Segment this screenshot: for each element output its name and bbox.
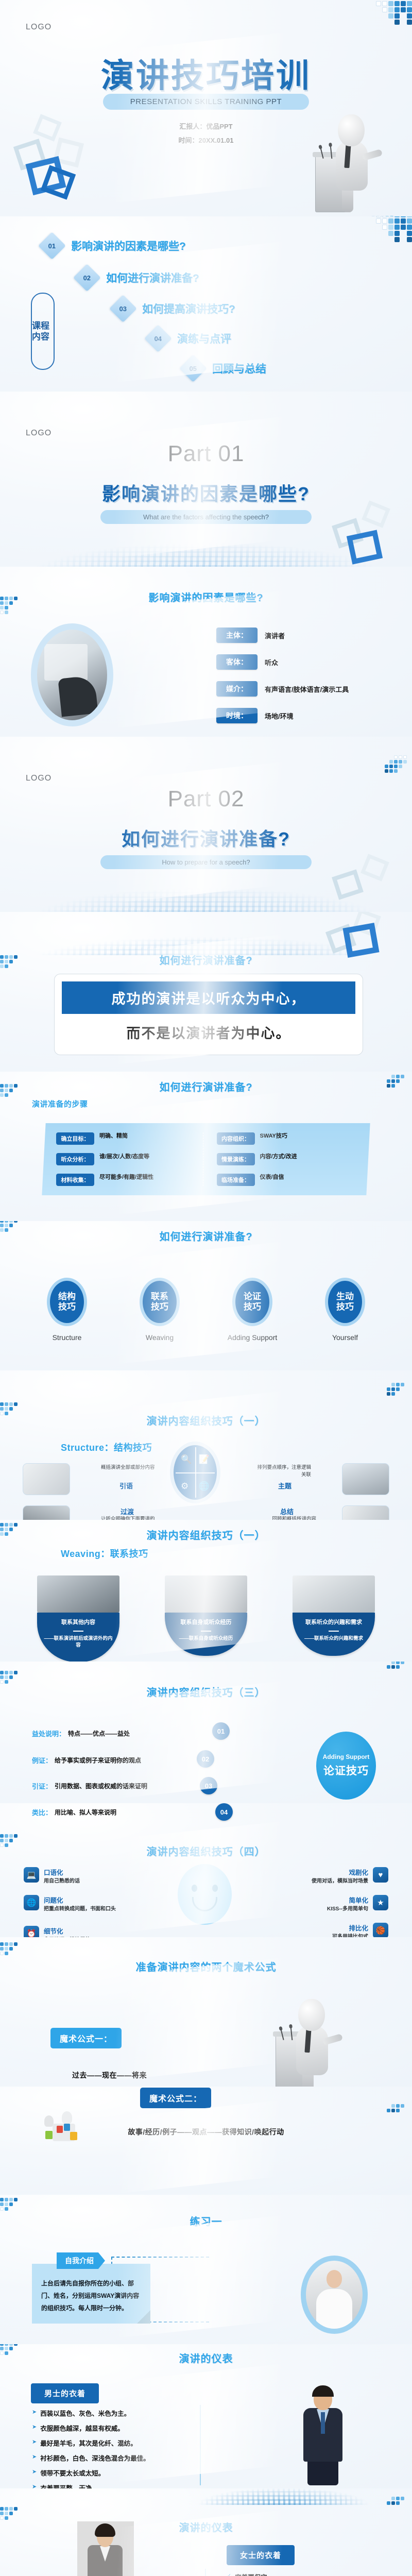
section-heading: 如何进行演讲准备? (0, 1228, 412, 1243)
podium-speaker-illustration (315, 114, 382, 212)
slide-weaving-skills: 演讲内容组织技巧（一） Weaving：联系技巧 联系其他内容 ——联系演讲前后… (0, 1520, 412, 1662)
yourself-title: 戏剧化 (312, 1867, 368, 1877)
star-icon: ★ (373, 1895, 388, 1910)
support-row-02: 例证： 给予事实或例子来证明你的观点 (32, 1755, 141, 1765)
toc-tag-label: 课程内容 (32, 320, 54, 343)
slide-structure-skills: 演讲内容组织技巧（一） Structure：结构技巧 🔍 📝 ⚙ 🌐 概括演讲全… (0, 1370, 412, 1520)
toc-item-label: 演练与点评 (177, 331, 231, 346)
weaving-card-title: 联系其他内容 (42, 1619, 114, 1626)
magic-formula-one-tag: 魔术公式一： (50, 2028, 122, 2048)
practice-note-text: 上台后请先自报你所在的小组、部门、姓名，分别运用SWAY演讲内容的组织技巧。每人… (41, 2280, 139, 2312)
mosaic-decoration-left (0, 1942, 22, 1955)
divider (201, 1631, 211, 1632)
step-key: 材料收集： (56, 1174, 94, 1186)
gear-people-icon: ⚙ (181, 1481, 188, 1492)
slide-part-02: LOGO Part 02 如何进行演讲准备? How to prepare fo… (0, 737, 412, 912)
practice-tag: 自我介绍 (57, 2252, 105, 2269)
toc-number-badge: 04 (144, 325, 172, 352)
yourself-desc: 可多用排比句式 (332, 1934, 368, 1937)
smiley-face-icon (178, 1864, 232, 1925)
yourself-item-detail: ⏰ 细节化 多用动词，描绘细节 (24, 1926, 163, 1937)
structure-caption-quotes: 概括演讲全部或部分内容 (101, 1464, 158, 1471)
slide-magic-formula-two: 魔术公式二： 故事/经历/例子——观点——获得知识/唤起行动 (0, 2087, 412, 2195)
factor-key: 媒介： (216, 681, 257, 697)
podium-speaker-illustration (276, 1999, 340, 2087)
section-heading: 练习一 (0, 2213, 412, 2228)
support-value: 特点——优点——益处 (68, 1729, 130, 1738)
dotted-floor-decoration (0, 520, 412, 567)
slide-preparation-steps: 如何进行演讲准备? 演讲准备的步骤 确立目标： 明确、精简 听众分析： 谁/层次… (0, 1072, 412, 1221)
list-item: ➤最好是羊毛，其次是化纤、混纺。 (32, 2438, 197, 2448)
step-key: 听众分析： (56, 1153, 94, 1165)
slide-cover: LOGO 演讲技巧培训 PRESENTATION SKILLS TRAINING… (0, 0, 412, 216)
structure-label-quotes: 引语 (119, 1481, 133, 1490)
mosaic-decoration-top-right (376, 0, 412, 25)
sway-label-bottom: 技巧 (151, 1302, 168, 1312)
structure-thumb-transition (23, 1505, 70, 1520)
section-heading: 准备演讲内容的两个魔术公式 (0, 1959, 412, 1974)
section-heading: 如何进行演讲准备? (0, 1079, 412, 1094)
preparation-steps-panel: 确立目标： 明确、精简 听众分析： 谁/层次/人数/态度等 材料收集： 尽可能多… (42, 1123, 370, 1195)
weaving-card-3: 联系听众的兴趣和需求 ——联系听众的兴趣和需求 (293, 1575, 375, 1656)
slide-practice-one: 练习一 上台后请先自报你所在的小组、部门、姓名，分别运用SWAY演讲内容的组织技… (0, 2195, 412, 2344)
steps-column-left: 确立目标： 明确、精简 听众分析： 谁/层次/人数/态度等 材料收集： 尽可能多… (56, 1132, 203, 1186)
list-item: ➤衣着要平整，干净。 (32, 2483, 197, 2488)
step-row: 临场准备： 仪表/自信 (217, 1174, 356, 1186)
team-figures-illustration (41, 2108, 93, 2148)
yourself-title: 简单化 (327, 1895, 368, 1905)
factor-row: 时境： 场地/环境 (216, 708, 349, 723)
step-row: 确立目标： 明确、精简 (56, 1132, 196, 1145)
part-number: Part 01 (0, 441, 412, 467)
slide-audience-centered: 如何进行演讲准备? 成功的演讲是以听众为中心， 而不是以演讲者为中心。 (0, 912, 412, 1072)
sway-label-top: 联系 (151, 1292, 168, 1302)
toc-number-badge: 01 (38, 232, 66, 260)
support-value: 用比喻、拟人等来说明 (55, 1808, 116, 1817)
logo-text: LOGO (26, 429, 51, 438)
factors-photo (31, 623, 113, 726)
step-value: 仪表/自信 (260, 1174, 284, 1181)
structure-label-topic: 主题 (278, 1481, 291, 1490)
section-heading: 演讲的仪表 (0, 2519, 412, 2534)
section-subheading: Structure：结构技巧 (61, 1440, 152, 1454)
yourself-desc: 使用对话，模拟当时场景 (312, 1878, 368, 1885)
arrow-bullet-icon: ➤ (32, 2453, 37, 2462)
monitor-icon: 💻 (24, 1867, 39, 1883)
factor-value: 演讲者 (265, 631, 285, 640)
support-number-03: 03 (200, 1777, 217, 1794)
structure-quadrant-diagram: 🔍 📝 ⚙ 🌐 (170, 1442, 220, 1503)
sway-item-structure[interactable]: 结构技巧 Structure (36, 1278, 98, 1342)
yourself-item-colloquial: 💻 口语化 用自己熟悉的话 (24, 1867, 163, 1885)
yourself-title: 排比化 (332, 1923, 368, 1933)
part-number: Part 02 (0, 786, 412, 812)
etiquette-men-tag: 男士的衣着 (31, 2383, 99, 2403)
weaving-card-title: 联系自身或听众经历 (170, 1619, 242, 1626)
section-heading: 演讲的仪表 (0, 2350, 412, 2365)
structure-thumb-topic (342, 1463, 389, 1495)
clock-icon: ⏰ (24, 1926, 39, 1937)
slide-part-01: LOGO Part 01 影响演讲的因素是哪些? What are the fa… (0, 392, 412, 567)
mosaic-decoration-right (385, 755, 407, 773)
step-key: 确立目标： (56, 1132, 94, 1145)
male-model-photo (296, 2387, 350, 2485)
sway-label-bottom: 技巧 (58, 1302, 76, 1312)
mosaic-decoration-left (0, 2507, 22, 2520)
step-value: 明确、精简 (99, 1132, 128, 1140)
basketball-icon: 🏀 (373, 1923, 388, 1937)
yourself-desc: KISS--多用简单句 (327, 1906, 368, 1913)
yourself-title: 口语化 (44, 1867, 80, 1877)
list-item: ➤衬衫颜色，白色、深浅色混合为最佳。 (32, 2453, 197, 2463)
list-item: ➤领带不要太长或太短。 (32, 2468, 197, 2478)
female-model-photo (77, 2521, 134, 2576)
mosaic-decoration-toc (376, 216, 412, 242)
weaving-card-desc: ——联系听众的兴趣和需求 (298, 1636, 370, 1642)
slide-table-of-contents: 课程内容 01 影响演讲的因素是哪些? 02 如何进行演讲准备? 03 如何提高… (0, 216, 412, 392)
arrow-bullet-icon: ➤ (32, 2423, 37, 2432)
part-title-cn: 如何进行演讲准备? (0, 824, 412, 851)
support-row-04: 类比： 用比喻、拟人等来说明 (32, 1807, 116, 1817)
mosaic-decoration-left (0, 1671, 22, 1684)
section-subheading: 演讲准备的步骤 (32, 1098, 88, 1109)
toc-number-badge: 05 (179, 354, 207, 382)
step-key: 内容组织： (217, 1132, 255, 1145)
cover-subtitle: PRESENTATION SKILLS TRAINING PPT (103, 94, 309, 110)
quote-box: 成功的演讲是以听众为中心， 而不是以演讲者为中心。 (54, 974, 363, 1055)
part-title-cn: 影响演讲的因素是哪些? (0, 479, 412, 506)
sway-circle: 论证技巧 (232, 1278, 272, 1326)
toc-item-02[interactable]: 02 如何进行演讲准备? (77, 268, 199, 287)
mosaic-decoration-right (387, 1383, 409, 1396)
cover-title: 演讲技巧培训 (0, 49, 412, 97)
step-value: 内容/方式/改进 (260, 1153, 297, 1160)
step-value: 尽可能多/有趣/逻辑性 (99, 1174, 153, 1181)
quote-line-1: 成功的演讲是以听众为中心， (62, 981, 355, 1014)
factor-row: 媒介： 有声语言/肢体语言/演示工具 (216, 681, 349, 697)
mosaic-decoration-right (387, 1662, 409, 1669)
yourself-title: 细节化 (44, 1926, 90, 1936)
section-heading: 演讲内容组织技巧（一） (0, 1527, 412, 1542)
section-heading: 影响演讲的因素是哪些? (0, 589, 412, 604)
check-bullet-icon: ✓ (227, 2572, 231, 2576)
factor-key: 时境： (216, 708, 257, 723)
factors-list: 主体： 演讲者 客体： 听众 媒介： 有声语言/肢体语言/演示工具 时境： 场地… (216, 628, 349, 735)
yourself-item-questioning: 🌐 问题化 把重点转换成问题，书面和口头 (24, 1895, 163, 1913)
sway-items: 结构技巧 Structure 联系技巧 Weaving 论证技巧 Adding … (36, 1278, 376, 1342)
adding-support-ball: Adding Support 论证技巧 (316, 1732, 376, 1800)
list-item: ➤西装以蓝色、灰色、米色为主。 (32, 2408, 197, 2418)
slide-sway-skills: 如何进行演讲准备? 结构技巧 Structure 联系技巧 Weaving 论证… (0, 1221, 412, 1370)
structure-caption-summary: 回顾和概括所讲内容 (252, 1516, 316, 1520)
section-heading: 演讲内容组织技巧（一） (0, 1413, 412, 1428)
slide-etiquette-men: 演讲的仪表 男士的衣着 ➤西装以蓝色、灰色、米色为主。 ➤衣服颜色越深，越显有权… (0, 2344, 412, 2488)
part-title-en: How to prepare for a speech? (100, 855, 312, 869)
document-icon: 📝 (199, 1454, 210, 1465)
divider (329, 1631, 339, 1632)
cube-frames-illustration (327, 857, 404, 912)
structure-thumb-quotes (23, 1463, 70, 1495)
sway-label-bottom: 技巧 (336, 1302, 354, 1312)
toc-section-tag: 课程内容 (31, 293, 55, 370)
support-number-02: 02 (197, 1750, 214, 1768)
toc-item-01[interactable]: 01 影响演讲的因素是哪些? (42, 236, 186, 256)
dotted-floor-decoration (0, 919, 412, 955)
arrow-bullet-icon: ➤ (32, 2483, 37, 2488)
step-row: 情景演练： 内容/方式/改进 (217, 1153, 356, 1165)
sway-label-en: Yourself (314, 1333, 376, 1342)
slide-adding-support: 演讲内容组织技巧（三） 益处说明： 特点——优点——益处 01 例证： 给予事实… (0, 1662, 412, 1803)
factor-value: 听众 (265, 657, 278, 667)
structure-thumb-summary (342, 1505, 389, 1520)
toc-item-05[interactable]: 05 回顾与总结 (183, 359, 266, 378)
list-item: ✓穿着要保守。 (227, 2572, 381, 2576)
support-ball-en: Adding Support (323, 1753, 370, 1760)
structure-label-summary: 总结 (280, 1506, 294, 1516)
sway-item-yourself[interactable]: 生动技巧 Yourself (314, 1278, 376, 1342)
factor-key: 客体： (216, 654, 257, 670)
weaving-card-desc: ——联系演讲前后或演讲外的内容 (42, 1636, 114, 1649)
part-title-en: What are the factors affecting the speec… (100, 510, 312, 524)
sway-item-weaving[interactable]: 联系技巧 Weaving (129, 1278, 191, 1342)
sway-label-en: Weaving (129, 1333, 191, 1342)
support-key: 益处说明： (32, 1728, 65, 1738)
practice-note-card: 上台后请先自报你所在的小组、部门、姓名，分别运用SWAY演讲内容的组织技巧。每人… (32, 2264, 150, 2324)
sway-item-adding-support[interactable]: 论证技巧 Adding Support (221, 1278, 283, 1342)
factor-row: 主体： 演讲者 (216, 628, 349, 643)
weaving-card-desc: ——联系自身或听众经历 (170, 1636, 242, 1642)
arrow-bullet-icon: ➤ (32, 2408, 37, 2417)
support-key: 类比： (32, 1807, 52, 1817)
step-row: 听众分析： 谁/层次/人数/态度等 (56, 1153, 196, 1165)
etiquette-women-list: ✓穿着要保守。 ✓套裙会增强你的形象。 ✓裙子的长度以稍过膝为宜。 ✓珠宝配戴要… (227, 2572, 381, 2576)
practice-photo (301, 2256, 368, 2334)
yourself-item-simple: ★ 简单化 KISS--多用简单句 (249, 1895, 388, 1913)
globe-icon: 🌐 (24, 1895, 39, 1910)
globe-icon: 🌐 (199, 1481, 210, 1492)
mosaic-decoration-right (387, 2104, 409, 2112)
support-value: 给予事实或例子来证明你的观点 (55, 1756, 141, 1765)
magic-formula-two-tag: 魔术公式二： (140, 2088, 211, 2108)
sway-label-bottom: 技巧 (244, 1302, 261, 1312)
arrow-bullet-icon: ➤ (32, 2438, 37, 2447)
presentation-page: LOGO 演讲技巧培训 PRESENTATION SKILLS TRAINING… (0, 0, 412, 2576)
mosaic-decoration-left (0, 2198, 22, 2211)
support-key: 引证： (32, 1781, 52, 1791)
section-heading: 演讲内容组织技巧（四） (0, 1843, 412, 1858)
etiquette-women-tag: 女士的衣着 (227, 2545, 295, 2565)
arrow-bullet-icon: ➤ (32, 2468, 37, 2477)
factor-value: 场地/环境 (265, 711, 294, 721)
support-number-01: 01 (212, 1722, 230, 1740)
step-row: 内容组织： SWAY技巧 (217, 1132, 356, 1145)
weaving-photo (37, 1575, 119, 1613)
toc-number-badge: 03 (109, 295, 137, 323)
section-heading: 演讲内容组织技巧（三） (0, 1684, 412, 1699)
weaving-card-2: 联系自身或听众经历 ——联系自身或听众经历 (165, 1575, 247, 1656)
step-value: 谁/层次/人数/态度等 (99, 1153, 149, 1160)
yourself-item-parallel: 🏀 排比化 可多用排比句式 (249, 1923, 388, 1937)
structure-label-transition: 过渡 (121, 1506, 134, 1516)
toc-item-label: 如何提高演讲技巧? (142, 301, 235, 316)
factor-value: 有声语言/肢体语言/演示工具 (265, 684, 349, 694)
toc-item-04[interactable]: 04 演练与点评 (148, 329, 231, 348)
sway-circle: 联系技巧 (140, 1278, 180, 1326)
support-key: 例证： (32, 1755, 52, 1765)
logo-text: LOGO (26, 774, 51, 783)
yourself-title: 问题化 (44, 1895, 116, 1905)
slide-magic-formulas: 准备演讲内容的两个魔术公式 魔术公式一： 过去——现在——将来 (0, 1937, 412, 2087)
cube-frames-illustration (327, 504, 404, 567)
steps-column-right: 内容组织： SWAY技巧 情景演练： 内容/方式/改进 临场准备： 仪表/自信 (203, 1132, 356, 1186)
support-ball-cn: 论证技巧 (323, 1762, 369, 1778)
section-heading: 如何进行演讲准备? (0, 952, 412, 967)
mosaic-decoration-right (387, 2497, 409, 2505)
slide-yourself-skills: 类比： 用比喻、拟人等来说明 04 演讲内容组织技巧（四） 💻 口语化 用自己熟… (0, 1803, 412, 1937)
sway-label-top: 论证 (244, 1292, 261, 1302)
step-key: 情景演练： (217, 1153, 255, 1165)
sway-label-top: 生动 (336, 1292, 354, 1302)
magic-formula-one-text: 过去——现在——将来 (72, 2070, 147, 2080)
slide-etiquette-women: 演讲的仪表 女士的衣着 ✓穿着要保守。 ✓套裙会增强你的形象。 ✓裙子的长度以稍… (0, 2488, 412, 2576)
weaving-photo (293, 1575, 375, 1613)
toc-item-03[interactable]: 03 如何提高演讲技巧? (113, 299, 235, 318)
divider (200, 2405, 201, 2485)
logo-text: LOGO (26, 23, 51, 32)
sway-circle: 生动技巧 (325, 1278, 365, 1326)
yourself-desc: 把重点转换成问题，书面和口头 (44, 1906, 116, 1913)
structure-caption-topic: 排列要点顺序，注意逻辑关联 (253, 1464, 311, 1479)
toc-item-label: 回顾与总结 (212, 361, 266, 376)
yourself-item-dramatic: ♥ 戏剧化 使用对话，模拟当时场景 (249, 1867, 388, 1885)
weaving-card-title: 联系听众的兴趣和需求 (298, 1619, 370, 1626)
support-value: 引用数据、图表或权威的话来证明 (55, 1782, 147, 1790)
wave-decoration (196, 2488, 371, 2505)
weaving-photo (165, 1575, 247, 1613)
sway-circle: 结构技巧 (47, 1278, 87, 1326)
list-item: ➤衣服颜色越深，越显有权威。 (32, 2423, 197, 2433)
factor-key: 主体： (216, 628, 257, 643)
support-row-01: 益处说明： 特点——优点——益处 (32, 1728, 130, 1738)
dotted-floor-decoration (0, 866, 412, 912)
toc-number-badge: 02 (73, 264, 101, 292)
step-row: 材料收集： 尽可能多/有趣/逻辑性 (56, 1174, 196, 1186)
section-subheading: Weaving：联系技巧 (61, 1547, 148, 1560)
yourself-desc: 用自己熟悉的话 (44, 1878, 80, 1885)
divider (73, 1631, 83, 1632)
etiquette-men-list: ➤西装以蓝色、灰色、米色为主。 ➤衣服颜色越深，越显有权威。 ➤最好是羊毛，其次… (32, 2408, 197, 2488)
quote-line-2: 而不是以演讲者为中心。 (62, 1014, 355, 1047)
factor-row: 客体： 听众 (216, 654, 349, 670)
sway-label-en: Structure (36, 1333, 98, 1342)
heart-icon: ♥ (373, 1867, 388, 1883)
divider (205, 2569, 206, 2576)
weaving-card-1: 联系其他内容 ——联系演讲前后或演讲外的内容 (37, 1575, 119, 1662)
toc-item-label: 如何进行演讲准备? (106, 270, 199, 285)
toc-item-label: 影响演讲的因素是哪些? (71, 238, 186, 253)
support-number-04: 04 (215, 1803, 233, 1821)
support-row-03: 引证： 引用数据、图表或权威的话来证明 (32, 1781, 147, 1791)
slide-speech-factors: 影响演讲的因素是哪些? 主体： 演讲者 客体： 听众 媒介： 有声语言/肢体语言… (0, 567, 412, 737)
step-key: 临场准备： (217, 1174, 255, 1186)
sway-label-top: 结构 (58, 1292, 76, 1302)
sway-label-en: Adding Support (221, 1333, 283, 1342)
search-icon: 🔍 (181, 1454, 192, 1465)
structure-caption-transition: 让听众明确你下面要讲的内容 (101, 1516, 159, 1520)
step-value: SWAY技巧 (260, 1132, 287, 1140)
